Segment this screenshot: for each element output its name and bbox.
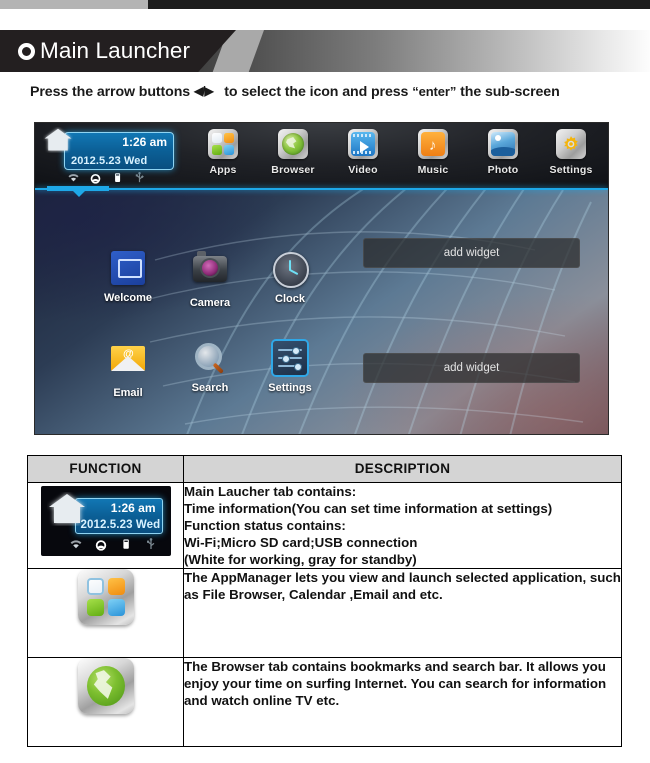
photo-landscape-icon bbox=[488, 129, 518, 159]
nav-item-apps[interactable]: Apps bbox=[190, 129, 256, 176]
desktop-icon-label: Search bbox=[170, 382, 250, 394]
status-icon-row bbox=[69, 536, 161, 551]
add-widget-label: add widget bbox=[444, 247, 500, 259]
function-description-table: FUNCTION DESCRIPTION 1:26 am 2012.5.23 W… bbox=[27, 455, 622, 747]
welcome-icon bbox=[111, 251, 145, 285]
desktop-icon-label: Camera bbox=[170, 297, 250, 309]
instruction-before: Press the arrow buttons bbox=[30, 84, 190, 100]
date-value: 2012.5.23 Wed bbox=[81, 519, 161, 531]
desktop-icon-search[interactable]: Search bbox=[170, 341, 250, 394]
launcher-screenshot: 1:26 am 2012.5.23 Wed bbox=[35, 123, 608, 434]
desktop-icon-welcome[interactable]: Welcome bbox=[88, 251, 168, 304]
manual-page: Main Launcher Press the arrow buttons ◀/… bbox=[0, 0, 650, 763]
header-description: DESCRIPTION bbox=[184, 456, 622, 483]
nav-label: Video bbox=[330, 164, 396, 176]
clock-icon bbox=[273, 252, 307, 286]
nav-label: Browser bbox=[260, 164, 326, 176]
description-text: Main Laucher tab contains: Time informat… bbox=[184, 483, 621, 568]
cell-description: Main Laucher tab contains: Time informat… bbox=[184, 483, 622, 569]
house-icon bbox=[47, 492, 87, 526]
page-title: Main Launcher bbox=[18, 30, 190, 72]
date-value: 2012.5.23 Wed bbox=[71, 155, 147, 167]
status-icon-row bbox=[67, 170, 165, 185]
time-widget[interactable]: 1:26 am 2012.5.23 Wed bbox=[41, 126, 176, 186]
header-function: FUNCTION bbox=[28, 456, 184, 483]
section-banner: Main Launcher bbox=[0, 30, 650, 72]
magnifier-icon bbox=[193, 341, 227, 375]
wifi-icon bbox=[69, 537, 83, 551]
usb-icon bbox=[133, 171, 146, 184]
selection-arrow bbox=[72, 190, 86, 197]
desktop-icon-label: Clock bbox=[250, 293, 330, 305]
browser-icon bbox=[78, 658, 134, 714]
top-strip-gray bbox=[0, 0, 148, 9]
appmanager-icon bbox=[78, 569, 134, 625]
nav-item-music[interactable]: ♪ Music bbox=[400, 129, 466, 176]
instruction-line: Press the arrow buttons ◀/▶ to select th… bbox=[30, 84, 630, 100]
banner-title-text: Main Launcher bbox=[40, 40, 190, 63]
table-row: The AppManager lets you view and launch … bbox=[28, 569, 622, 658]
top-strip-dark bbox=[0, 0, 650, 9]
nav-label: Photo bbox=[470, 164, 536, 176]
table-row: 1:26 am 2012.5.23 Wed bbox=[28, 483, 622, 569]
cell-icon-browser bbox=[28, 658, 184, 747]
email-icon: @ bbox=[111, 346, 145, 380]
house-icon bbox=[43, 127, 73, 153]
table-header-row: FUNCTION DESCRIPTION bbox=[28, 456, 622, 483]
sd-card-icon bbox=[89, 171, 102, 184]
nav-item-video[interactable]: Video bbox=[330, 129, 396, 176]
add-widget-label: add widget bbox=[444, 362, 500, 374]
wifi-icon bbox=[67, 171, 80, 184]
music-note-icon: ♪ bbox=[418, 129, 448, 159]
cell-icon-launcher-thumb: 1:26 am 2012.5.23 Wed bbox=[28, 483, 184, 569]
desktop-icon-label: Email bbox=[88, 387, 168, 399]
cell-icon-appmanager bbox=[28, 569, 184, 658]
instruction-middle: to select the icon and press bbox=[224, 84, 408, 100]
table-row: The Browser tab contains bookmarks and s… bbox=[28, 658, 622, 747]
nav-item-photo[interactable]: Photo bbox=[470, 129, 536, 176]
add-widget-slot-bottom[interactable]: add widget bbox=[363, 353, 580, 383]
time-value: 1:26 am bbox=[111, 501, 156, 515]
sd-card-icon bbox=[94, 537, 108, 551]
nav-underline bbox=[35, 188, 608, 190]
memory-card-icon bbox=[111, 171, 124, 184]
ring-icon bbox=[18, 43, 35, 60]
time-date-box: 1:26 am 2012.5.23 Wed bbox=[64, 132, 174, 170]
arrow-buttons-icon: ◀/▶ bbox=[194, 84, 213, 98]
usb-icon bbox=[144, 537, 158, 551]
main-launcher-tab-thumbnail: 1:26 am 2012.5.23 Wed bbox=[41, 486, 171, 556]
nav-item-browser[interactable]: Browser bbox=[260, 129, 326, 176]
instruction-quoted: “enter” bbox=[412, 84, 456, 99]
desktop-icon-settings[interactable]: Settings bbox=[250, 341, 330, 394]
add-widget-slot-top[interactable]: add widget bbox=[363, 238, 580, 268]
desktop-icon-email[interactable]: @ Email bbox=[88, 341, 168, 399]
cell-description: The Browser tab contains bookmarks and s… bbox=[184, 658, 622, 747]
nav-label: Music bbox=[400, 164, 466, 176]
settings-sliders-icon bbox=[273, 341, 307, 375]
description-text: The AppManager lets you view and launch … bbox=[184, 569, 621, 603]
video-play-icon bbox=[348, 129, 378, 159]
gear-icon bbox=[556, 129, 586, 159]
memory-card-icon bbox=[119, 537, 133, 551]
desktop-icon-camera[interactable]: Camera bbox=[170, 251, 250, 309]
nav-item-settings[interactable]: Settings bbox=[538, 129, 604, 176]
camera-icon bbox=[193, 256, 227, 290]
desktop-icon-label: Welcome bbox=[88, 292, 168, 304]
globe-icon bbox=[278, 129, 308, 159]
time-date-box: 1:26 am 2012.5.23 Wed bbox=[75, 498, 163, 534]
nav-label: Settings bbox=[538, 164, 604, 176]
nav-label: Apps bbox=[190, 164, 256, 176]
desktop-icon-clock[interactable]: Clock bbox=[250, 251, 330, 305]
desktop-icon-label: Settings bbox=[250, 382, 330, 394]
apps-grid-icon bbox=[208, 129, 238, 159]
cell-description: The AppManager lets you view and launch … bbox=[184, 569, 622, 658]
instruction-after: the sub-screen bbox=[460, 84, 560, 100]
description-text: The Browser tab contains bookmarks and s… bbox=[184, 658, 621, 709]
time-value: 1:26 am bbox=[122, 135, 167, 149]
